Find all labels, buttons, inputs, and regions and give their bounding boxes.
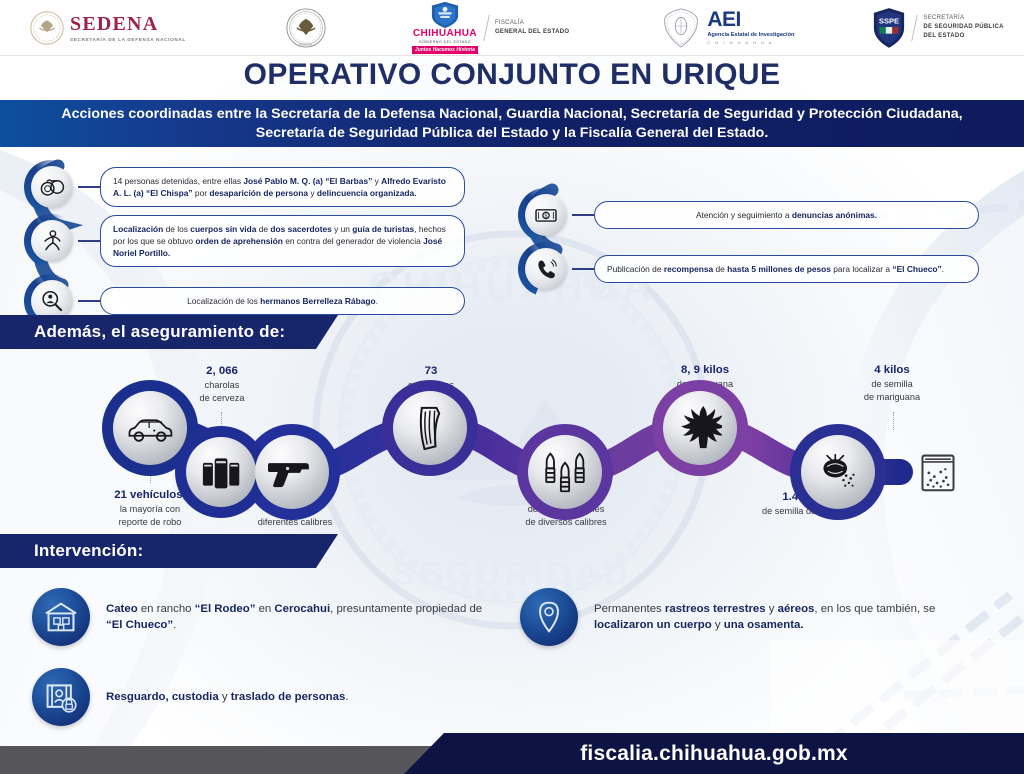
callout-text: Localización de los cuerpos sin vida de … bbox=[100, 215, 465, 268]
callouts-section: 14 personas detenidas, entre ellas José … bbox=[0, 152, 1024, 312]
callout-text: Publicación de recompensa de hasta 5 mil… bbox=[594, 255, 979, 283]
fiscalia-line1: FISCALÍA bbox=[495, 19, 569, 28]
logo-divider-2 bbox=[912, 15, 919, 41]
callout-stem bbox=[572, 268, 594, 270]
footer: fiscalia.chihuahua.gob.mx bbox=[0, 733, 1024, 774]
callout-right-2: Publicación de recompensa de hasta 5 mil… bbox=[518, 242, 979, 296]
callout-stem bbox=[78, 300, 100, 302]
callout-text: Atención y seguimiento a denuncias anóni… bbox=[594, 201, 979, 229]
svg-text:SSPE: SSPE bbox=[879, 16, 899, 25]
seizures-chain bbox=[0, 360, 1024, 535]
car-icon bbox=[118, 396, 182, 460]
banner-seizures: Además, el aseguramiento de: bbox=[0, 315, 316, 349]
logo-sspe: SSPE SECRETARÍA DE SEGURIDAD PÚBLICA DEL… bbox=[872, 5, 1003, 51]
logo-chihuahua-title: CHIHUAHUA bbox=[413, 29, 477, 39]
sspe-line2: DE SEGURIDAD PÚBLICA bbox=[923, 23, 1003, 32]
seed-bag-icon bbox=[906, 442, 970, 502]
intervention-text-1: Cateo en rancho “El Rodeo” en Cerocahui,… bbox=[106, 601, 496, 633]
logo-aei-title: AEI bbox=[707, 10, 794, 30]
callout-icon-wrap bbox=[518, 242, 572, 296]
intervention-text-2: Permanentes rastreos terrestres y aéreos… bbox=[594, 601, 994, 633]
logo-sedena-subtitle: SECRETARÍA DE LA DEFENSA NACIONAL bbox=[70, 37, 186, 42]
logo-chihuahua-fiscalia: CHIHUAHUA GOBIERNO DEL ESTADO Juntos Hac… bbox=[412, 5, 569, 51]
poppy-pod-icon bbox=[806, 442, 870, 502]
fiscalia-line2: GENERAL DEL ESTADO bbox=[495, 28, 569, 37]
callout-right-1: $ Atención y seguimiento a denuncias anó… bbox=[518, 188, 979, 242]
callout-text: Localización de los hermanos Berrelleza … bbox=[100, 287, 465, 315]
footer-url[interactable]: fiscalia.chihuahua.gob.mx bbox=[404, 733, 1024, 774]
intervention-row-1: Cateo en rancho “El Rodeo” en Cerocahui,… bbox=[32, 588, 502, 646]
mexican-eagle-seal-icon bbox=[30, 11, 64, 45]
logo-sedena: SEDENA SECRETARÍA DE LA DEFENSA NACIONAL bbox=[30, 5, 186, 51]
sspe-line1: SECRETARÍA bbox=[923, 14, 1003, 23]
logo-chihuahua-subtitle: GOBIERNO DEL ESTADO bbox=[419, 40, 471, 44]
logo-bar: SEDENA SECRETARÍA DE LA DEFENSA NACIONAL… bbox=[0, 0, 1024, 56]
intervention-row-3: Resguardo, custodia y traslado de person… bbox=[32, 668, 502, 726]
callout-left-2: Localización de los cuerpos sin vida de … bbox=[24, 214, 484, 268]
magazine-icon bbox=[398, 396, 462, 460]
logo-aei: AEI Agencia Estatal de Investigación C H… bbox=[661, 5, 794, 51]
phone-signal-icon bbox=[525, 248, 567, 290]
logo-aei-subtitle: Agencia Estatal de Investigación bbox=[707, 32, 794, 39]
custody-icon bbox=[32, 668, 90, 726]
svg-text:NACIONAL: NACIONAL bbox=[299, 42, 313, 46]
ranch-house-icon bbox=[32, 588, 90, 646]
location-pin-icon bbox=[520, 588, 578, 646]
logo-guardia-nacional: NACIONAL bbox=[286, 5, 326, 51]
intervention-row-2: Permanentes rastreos terrestres y aéreos… bbox=[520, 588, 1010, 646]
aei-badge-seal-icon bbox=[661, 7, 701, 49]
callout-icon-wrap: $ bbox=[518, 188, 572, 242]
callout-stem bbox=[78, 240, 100, 242]
logo-sedena-title: SEDENA bbox=[70, 14, 186, 34]
logo-divider bbox=[483, 15, 490, 41]
handcuffs-icon bbox=[31, 166, 73, 208]
subtitle-band: Acciones coordinadas entre la Secretaría… bbox=[0, 100, 1024, 147]
page-title: OPERATIVO CONJUNTO EN URIQUE bbox=[0, 58, 1024, 92]
callout-icon-wrap bbox=[24, 160, 78, 214]
intervention-text-3: Resguardo, custodia y traslado de person… bbox=[106, 689, 496, 705]
callout-stem bbox=[572, 214, 594, 216]
banknote-icon: $ bbox=[525, 194, 567, 236]
beer-cans-icon bbox=[192, 442, 252, 502]
body-outline-icon bbox=[31, 220, 73, 262]
sspe-line3: DEL ESTADO bbox=[923, 32, 1003, 41]
cannabis-leaf-icon bbox=[668, 396, 732, 460]
subtitle-text: Acciones coordinadas entre la Secretaría… bbox=[0, 105, 1024, 142]
pistol-icon bbox=[260, 442, 324, 502]
callout-left-1: 14 personas detenidas, entre ellas José … bbox=[24, 160, 484, 214]
logo-chihuahua-tag: Juntos Hacemos Historia bbox=[412, 46, 478, 54]
sspe-shield-icon: SSPE bbox=[872, 7, 906, 49]
banner-intervention: Intervención: bbox=[0, 534, 316, 568]
infographic-poster: CHIHUAHUA SEGURIDAD bbox=[0, 0, 1024, 774]
bullets-icon bbox=[533, 442, 597, 502]
guardia-nacional-seal-icon: NACIONAL bbox=[286, 8, 326, 48]
footer-gray-bar bbox=[0, 746, 470, 774]
svg-text:$: $ bbox=[545, 214, 548, 220]
callout-icon-wrap bbox=[24, 214, 78, 268]
callout-stem bbox=[78, 186, 100, 188]
chihuahua-shield-icon bbox=[430, 1, 460, 29]
callout-text: 14 personas detenidas, entre ellas José … bbox=[100, 167, 465, 207]
logo-aei-subtitle2: C H I H U A H U A bbox=[707, 40, 794, 45]
